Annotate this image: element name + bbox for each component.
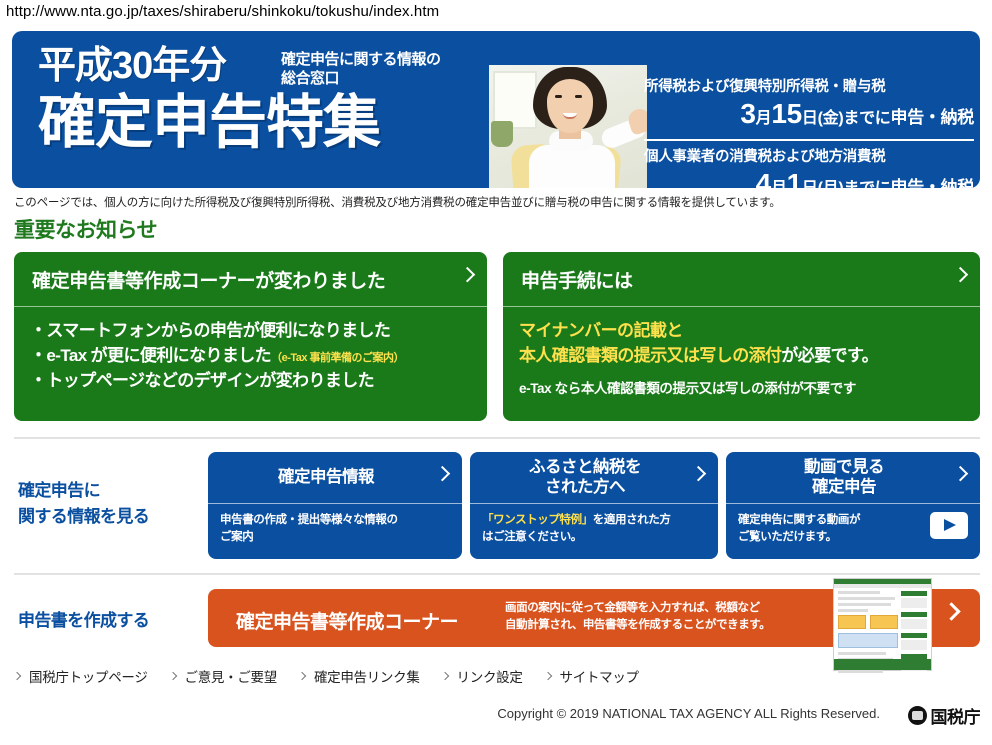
chevron-right-icon [953,465,969,481]
deadline-day: 15 [771,98,802,129]
deadline-list: 所得税および復興特別所得税・贈与税 3月15日(金)までに申告・納税 個人事業者… [644,71,974,188]
page-root: http://www.nta.go.jp/taxes/shiraberu/shi… [0,0,992,745]
chevron-right-icon [298,672,306,680]
deadline-item: 個人事業者の消費税および地方消費税 4月1日(月)までに申告・納税 [644,139,974,188]
card-title-line2: 確定申告 [812,478,876,496]
notice-bullet: ・e-Tax が更に便利になりました（e-Tax 事前準備のご案内） [30,343,471,368]
notice-bullet-note[interactable]: （e-Tax 事前準備のご案内） [271,352,404,364]
deadline-action: 申告・納税 [891,178,975,188]
footer-link[interactable]: リンク設定 [442,666,523,686]
create-row-label: 申告書を作成する [18,608,149,634]
deadline-item: 所得税および復興特別所得税・贈与税 3月15日(金)までに申告・納税 [644,71,974,139]
chevron-right-icon [440,672,448,680]
deadline-date: 4月1日(月)までに申告・納税 [644,166,974,188]
notice-panel-title: 申告手続には [521,266,633,293]
section-heading-important-notice: 重要なお知らせ [14,214,157,244]
create-banner-desc-line2: 自動計算され、申告書等を作成することができます。 [505,617,770,634]
info-row-label-line1: 確定申告に [18,478,149,504]
copyright-text: Copyright © 2019 NATIONAL TAX AGENCY ALL… [497,706,880,721]
card-title: 動画で見る 確定申告 [804,458,884,498]
deadline-month-unit: 月 [756,110,772,127]
hero-title: 確定申告特集 [38,94,380,152]
footer-link[interactable]: ご意見・ご要望 [170,666,277,686]
section-divider [14,573,980,575]
footer-link-label: ご意見・ご要望 [185,666,277,686]
chevron-right-icon [13,672,21,680]
card-header[interactable]: ふるさと納税を された方へ [470,452,718,504]
notice-line-identity-yellow: 本人確認書類の提示又は写しの添付 [519,346,781,365]
chevron-right-icon [691,465,707,481]
page-lead-text: このページでは、個人の方に向けた所得税及び復興特別所得税、消費税及び地方消費税の… [14,194,974,210]
nta-agency-logo: 国税庁 [908,703,981,728]
footer-link[interactable]: 国税庁トップページ [14,666,148,686]
card-title-line1: ふるさと納税を [529,458,641,476]
card-hometown-tax[interactable]: ふるさと納税を された方へ 「ワンストップ特例」を適用された方 はご注意ください… [470,452,718,559]
card-title-line1: 動画で見る [804,458,884,476]
notice-line-identity: 本人確認書類の提示又は写しの添付が必要です。 [519,343,964,368]
deadline-action: 申告・納税 [891,108,975,127]
footer-link-label: リンク設定 [457,666,523,686]
card-desc-line2: はご注意ください。 [482,529,708,546]
hero-subtitle: 確定申告に関する情報の 総合窓口 [281,51,491,89]
address-bar-url[interactable]: http://www.nta.go.jp/taxes/shiraberu/shi… [6,3,439,20]
deadline-day-unit: 日 [802,180,818,188]
card-title-line1: 確定申告情報 [278,468,374,486]
chevron-right-icon [460,267,476,283]
card-video-guide[interactable]: 動画で見る 確定申告 確定申告に関する動画が ご覧いただけます。 [726,452,980,559]
card-header[interactable]: 確定申告情報 [208,452,462,504]
deadline-heading: 個人事業者の消費税および地方消費税 [644,141,974,166]
notice-panel-body: マイナンバーの記載と 本人確認書類の提示又は写しの添付が必要です。 e-Tax … [503,307,980,397]
footer-link-label: 確定申告リンク集 [314,666,420,686]
deadline-heading: 所得税および復興特別所得税・贈与税 [644,71,974,96]
card-body: 「ワンストップ特例」を適用された方 はご注意ください。 [470,504,718,545]
deadline-month: 3 [740,98,755,129]
hero-subtitle-line2: 総合窓口 [281,70,491,89]
card-filing-information[interactable]: 確定申告情報 申告書の作成・提出等様々な情報の ご案内 [208,452,462,559]
notice-bullet: ・トップページなどのデザインが変わりました [30,368,471,393]
card-body: 確定申告に関する動画が ご覧いただけます。 [726,504,980,545]
chevron-right-icon [942,602,960,620]
chevron-right-icon [543,672,551,680]
deadline-tail: までに [843,110,890,127]
notice-panel-body: ・スマートフォンからの申告が便利になりました ・e-Tax が更に便利になりまし… [14,307,487,393]
chevron-right-icon [953,267,969,283]
card-desc-line1-tail: を適用された方 [593,514,671,526]
footer-link-label: 国税庁トップページ [29,666,148,686]
deadline-weekday: (月) [818,180,844,188]
deadline-weekday: (金) [818,110,844,127]
notice-bullet-text: ・e-Tax が更に便利になりました [30,346,271,365]
deadline-month-unit: 月 [771,180,787,188]
create-banner-desc-line1: 画面の案内に従って金額等を入力すれば、税額など [505,600,770,617]
notice-line-mynumber: マイナンバーの記載と [519,318,964,343]
footer-link-list: 国税庁トップページ ご意見・ご要望 確定申告リンク集 リンク設定 サイトマップ [14,666,661,686]
hero-photo-woman [489,65,647,188]
card-title: 確定申告情報 [278,468,374,488]
nta-agency-name: 国税庁 [931,703,981,728]
notice-panel-creation-corner[interactable]: 確定申告書等作成コーナーが変わりました ・スマートフォンからの申告が便利になりま… [14,252,487,421]
chevron-right-icon [168,672,176,680]
hero-subtitle-line1: 確定申告に関する情報の [281,51,491,70]
notice-line-identity-tail: が必要です。 [781,346,878,365]
notice-panel-filing-procedure[interactable]: 申告手続には マイナンバーの記載と 本人確認書類の提示又は写しの添付が必要です。… [503,252,980,421]
card-desc-line1: 「ワンストップ特例」を適用された方 [482,512,708,529]
deadline-date: 3月15日(金)までに申告・納税 [644,96,974,130]
card-title: ふるさと納税を された方へ [529,458,641,498]
card-header[interactable]: 動画で見る 確定申告 [726,452,980,504]
deadline-month: 4 [756,168,771,188]
notice-panel-title: 確定申告書等作成コーナーが変わりました [32,266,385,293]
play-video-icon[interactable] [930,512,968,539]
deadline-day: 1 [787,168,802,188]
hero-banner[interactable]: 平成30年分 確定申告に関する情報の 総合窓口 確定申告特集 [12,31,980,188]
notice-bullet: ・スマートフォンからの申告が便利になりました [30,318,471,343]
card-body: 申告書の作成・提出等様々な情報の ご案内 [208,504,462,545]
nta-seal-icon [908,706,927,725]
card-desc-highlight: 「ワンストップ特例」 [482,514,593,526]
info-row-label-line2: 関する情報を見る [18,504,149,530]
card-desc-line2: ご案内 [220,529,452,546]
footer-link-label: サイトマップ [560,666,639,686]
footer-link[interactable]: 確定申告リンク集 [299,666,420,686]
deadline-day-unit: 日 [802,110,818,127]
chevron-right-icon [435,465,451,481]
info-row-label: 確定申告に 関する情報を見る [18,478,149,529]
footer-link[interactable]: サイトマップ [545,666,639,686]
notice-panel-header[interactable]: 確定申告書等作成コーナーが変わりました [14,252,487,307]
section-divider [14,437,980,439]
create-banner-title: 確定申告書等作成コーナー [236,607,458,634]
notice-panel-header[interactable]: 申告手続には [503,252,980,307]
card-title-line2: された方へ [545,478,625,496]
site-screenshot-thumbnail [833,578,932,671]
deadline-tail: までに [843,180,890,188]
hero-left-text: 平成30年分 確定申告に関する情報の 総合窓口 [38,47,488,87]
create-banner-description: 画面の案内に従って金額等を入力すれば、税額など 自動計算され、申告書等を作成する… [505,600,770,635]
card-desc-line1: 申告書の作成・提出等様々な情報の [220,512,452,529]
notice-line-etax: e-Tax なら本人確認書類の提示又は写しの添付が不要です [519,377,964,397]
